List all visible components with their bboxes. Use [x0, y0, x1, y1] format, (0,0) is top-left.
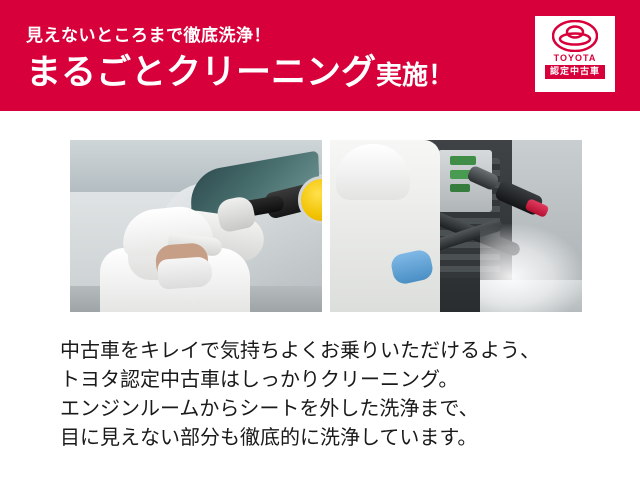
photo-row: TOYOTA — [0, 111, 640, 311]
cleaning-promo-banner: 見えないところまで徹底洗浄！ まるごとクリーニング実施！ TOYOTA 認定中古… — [0, 0, 640, 480]
green-label-1 — [450, 156, 476, 165]
toyota-logo-block: TOYOTA 認定中古車 — [535, 16, 615, 92]
body-line-4: 目に見えない部分も徹底的に洗浄しています。 — [60, 424, 580, 453]
header-band: 見えないところまで徹底洗浄！ まるごとクリーニング実施！ TOYOTA 認定中古… — [0, 0, 640, 111]
worker-mask-shape — [157, 256, 213, 290]
photo-car-polishing: TOYOTA — [70, 140, 322, 312]
header-text-group: 見えないところまで徹底洗浄！ まるごとクリーニング実施！ — [26, 26, 454, 93]
body-line-2: トヨタ認定中古車はしっかりクリーニング。 — [60, 366, 580, 395]
header-title: まるごとクリーニング実施！ — [26, 54, 454, 93]
header-subtitle: 見えないところまで徹底洗浄！ — [26, 26, 454, 46]
body-copy: 中古車をキレイで気持ちよくお乗りいただけるよう、 トヨタ認定中古車はしっかりクリ… — [60, 337, 580, 453]
toyota-emblem-icon — [552, 20, 598, 52]
photo-car-polishing-content: TOYOTA — [70, 140, 322, 312]
photo-steam-cleaning-content — [330, 140, 582, 312]
body-line-3: エンジンルームからシートを外した洗浄まで、 — [60, 395, 580, 424]
certification-badge: 認定中古車 — [545, 65, 605, 79]
header-title-suffix: 実施！ — [376, 60, 454, 90]
header-title-main: まるごとクリーニング — [26, 53, 376, 92]
toyota-brand-text: TOYOTA — [554, 53, 597, 63]
steam-cloud-shape — [480, 224, 582, 312]
green-label-3 — [450, 184, 470, 192]
body-line-1: 中古車をキレイで気持ちよくお乗りいただけるよう、 — [60, 337, 580, 366]
photo-steam-cleaning — [330, 140, 582, 312]
